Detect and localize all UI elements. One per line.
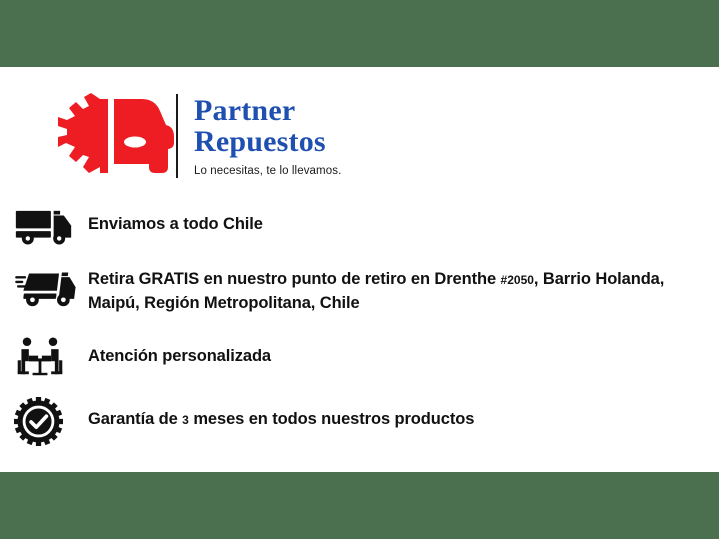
brand-line-partner: Partner — [194, 95, 341, 126]
feature-text-retira: Retira GRATIS en nuestro punto de retiro… — [88, 268, 704, 315]
people-at-table-icon — [14, 336, 88, 379]
feature-text-garantia: Garantía de 3 meses en todos nuestros pr… — [88, 397, 704, 432]
feature-row-atencion: Atención personalizada — [14, 336, 704, 379]
feature-row-retira: Retira GRATIS en nuestro punto de retiro… — [14, 268, 704, 315]
feature-text-envios: Enviamos a todo Chile — [88, 207, 704, 236]
top-green-band — [0, 0, 719, 67]
brand-line-repuestos: Repuestos — [194, 126, 341, 157]
brand-logo: Partner Repuestos Lo necesitas, te lo ll… — [56, 93, 341, 179]
gear-car-icon — [56, 93, 174, 179]
fast-delivery-truck-icon — [14, 268, 88, 308]
feature-text-number: #2050 — [501, 273, 534, 287]
promo-banner: Partner Repuestos Lo necesitas, te lo ll… — [0, 0, 719, 539]
brand-text: Partner Repuestos Lo necesitas, te lo ll… — [194, 95, 341, 177]
feature-text-rest: meses en todos nuestros productos — [189, 410, 474, 428]
feature-text-main: Enviamos a todo Chile — [88, 215, 263, 233]
feature-row-envios: Enviamos a todo Chile — [14, 207, 704, 246]
delivery-truck-icon — [14, 207, 88, 246]
feature-text-main: Retira GRATIS en nuestro punto de retiro… — [88, 270, 501, 288]
guarantee-badge-check-icon — [14, 397, 88, 446]
feature-row-garantia: Garantía de 3 meses en todos nuestros pr… — [14, 397, 704, 446]
logo-divider — [176, 94, 178, 178]
brand-tagline: Lo necesitas, te lo llevamos. — [194, 165, 341, 177]
feature-text-atencion: Atención personalizada — [88, 336, 704, 368]
content-area: Partner Repuestos Lo necesitas, te lo ll… — [0, 67, 719, 472]
feature-text-number: 3 — [182, 413, 189, 427]
feature-text-main: Garantía de — [88, 410, 182, 428]
bottom-green-band — [0, 472, 719, 539]
feature-text-main: Atención personalizada — [88, 347, 271, 365]
